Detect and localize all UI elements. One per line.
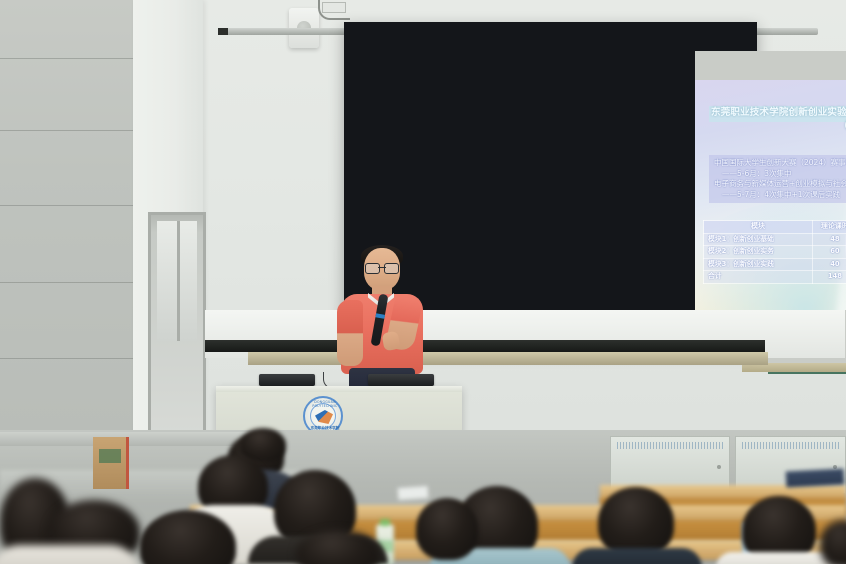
slide-bullet-0: 中国国际大学生创新大赛（2024）赛事培训	[714, 158, 846, 169]
side-door[interactable]	[148, 212, 206, 438]
table-cell-module: 模块1：创新创业基础	[704, 233, 813, 246]
table-row: 模块1：创新创业基础 48 16 64 4 青苗班	[704, 233, 846, 246]
table-cell-theory: 148	[813, 271, 846, 284]
slide-bullet-3: ——5-7月：4次集中+1次课后实践	[722, 190, 840, 199]
left-wall-panel	[0, 0, 133, 430]
audience-head	[416, 498, 478, 560]
folder-on-desk	[786, 468, 845, 487]
table-header-module: 模块	[704, 221, 813, 234]
speaker-wire	[318, 0, 350, 20]
table-row: 模块3：创新创业实践 40 88 128 8 菁英班	[704, 258, 846, 271]
slide-bullet-3-row: ——5-7月：4次集中+1次课后实践（课时进展：40+）	[714, 190, 846, 201]
slide-bullet-2: 电子商务与新媒体运营+创业模拟与社会实践（24学时+16学时）	[714, 179, 846, 190]
table-row: 模块2：创新创业实务 60 36 96 6	[704, 246, 846, 259]
table-cell-theory: 40	[813, 258, 846, 271]
podium-equipment-right	[368, 374, 434, 386]
emblem-arc-text: DONGGUAN POLYTECHNIC	[305, 400, 345, 408]
cardboard-box	[93, 437, 129, 489]
audience-shoulders	[0, 545, 140, 564]
rail-end-cap	[218, 28, 228, 35]
presenter-left-arm	[337, 300, 363, 366]
table-cell-module: 模块2：创新创业实务	[704, 246, 813, 259]
door-mullion	[177, 221, 180, 341]
lower-board-tray	[248, 352, 768, 365]
slide-curriculum-table: 模块 理论课时 实践课时 课时合计 学分 说明 模块1：创新创业基础 48 16	[703, 220, 846, 284]
slide-bullet-box: 中国国际大学生创新大赛（2024）赛事培训 ——5-6月：3次集中 电子商务与新…	[709, 155, 846, 203]
paper-sheet	[398, 486, 429, 500]
table-cell-module: 模块3：创新创业实践	[704, 258, 813, 271]
audience-shoulders	[572, 548, 702, 564]
presenter	[327, 248, 433, 388]
presentation-slide: 东莞职业技术学院创新创业实验班暨创业师资集训 （第2期） 起 航 心灵的起航， …	[695, 80, 846, 310]
podium-top-edge	[216, 386, 462, 392]
table-row: 合计 148 140 288 18	[704, 271, 846, 284]
table-header-row: 模块 理论课时 实践课时 课时合计 学分 说明	[704, 221, 846, 234]
slide-title-line2: （第2期）	[711, 120, 846, 134]
presenter-glasses-icon	[365, 263, 399, 272]
lecture-hall-screenshot: 东莞职业技术学院创新创业实验班暨创业师资集训 （第2期） 起 航 心灵的起航， …	[0, 0, 846, 564]
table-cell-theory: 60	[813, 246, 846, 259]
table-cell-theory: 48	[813, 233, 846, 246]
lower-board-dark-edge	[205, 340, 765, 352]
podium-equipment-left	[259, 374, 315, 386]
slide-title-line1: 东莞职业技术学院创新创业实验班暨创业师资集训	[711, 105, 846, 121]
table-cell-module: 合计	[704, 271, 813, 284]
slide-bullet-1: ——5-6月：3次集中	[714, 169, 846, 180]
audience-head	[598, 487, 674, 557]
table-header-theory-hours: 理论课时	[813, 221, 846, 234]
